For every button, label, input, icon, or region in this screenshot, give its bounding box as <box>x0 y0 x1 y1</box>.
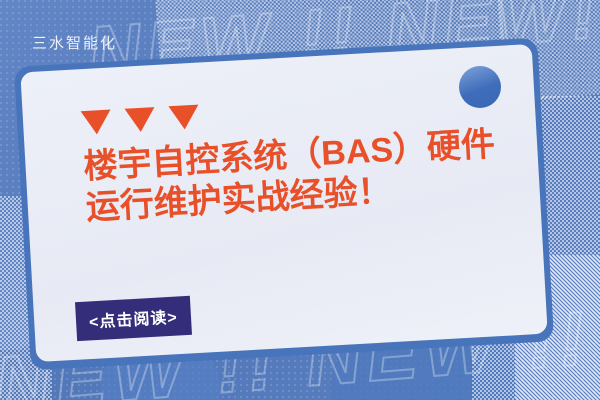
triangle-down-icon <box>124 107 155 133</box>
decor-circle-accent-dot <box>459 66 501 108</box>
brand-label: 三水智能化 <box>32 32 117 53</box>
card-content: 楼宇自控系统（BAS）硬件运行维护实战经验！ <box>81 87 515 230</box>
triangle-down-icon <box>81 110 112 136</box>
triangle-down-icon <box>168 105 199 131</box>
page-title: 楼宇自控系统（BAS）硬件运行维护实战经验！ <box>83 123 515 230</box>
poster-canvas: NEW !! NEW! NEW !! NEW !! 三水智能化 楼宇自控系统（B… <box>0 0 600 400</box>
read-more-button[interactable]: <点击阅读> <box>75 296 192 341</box>
